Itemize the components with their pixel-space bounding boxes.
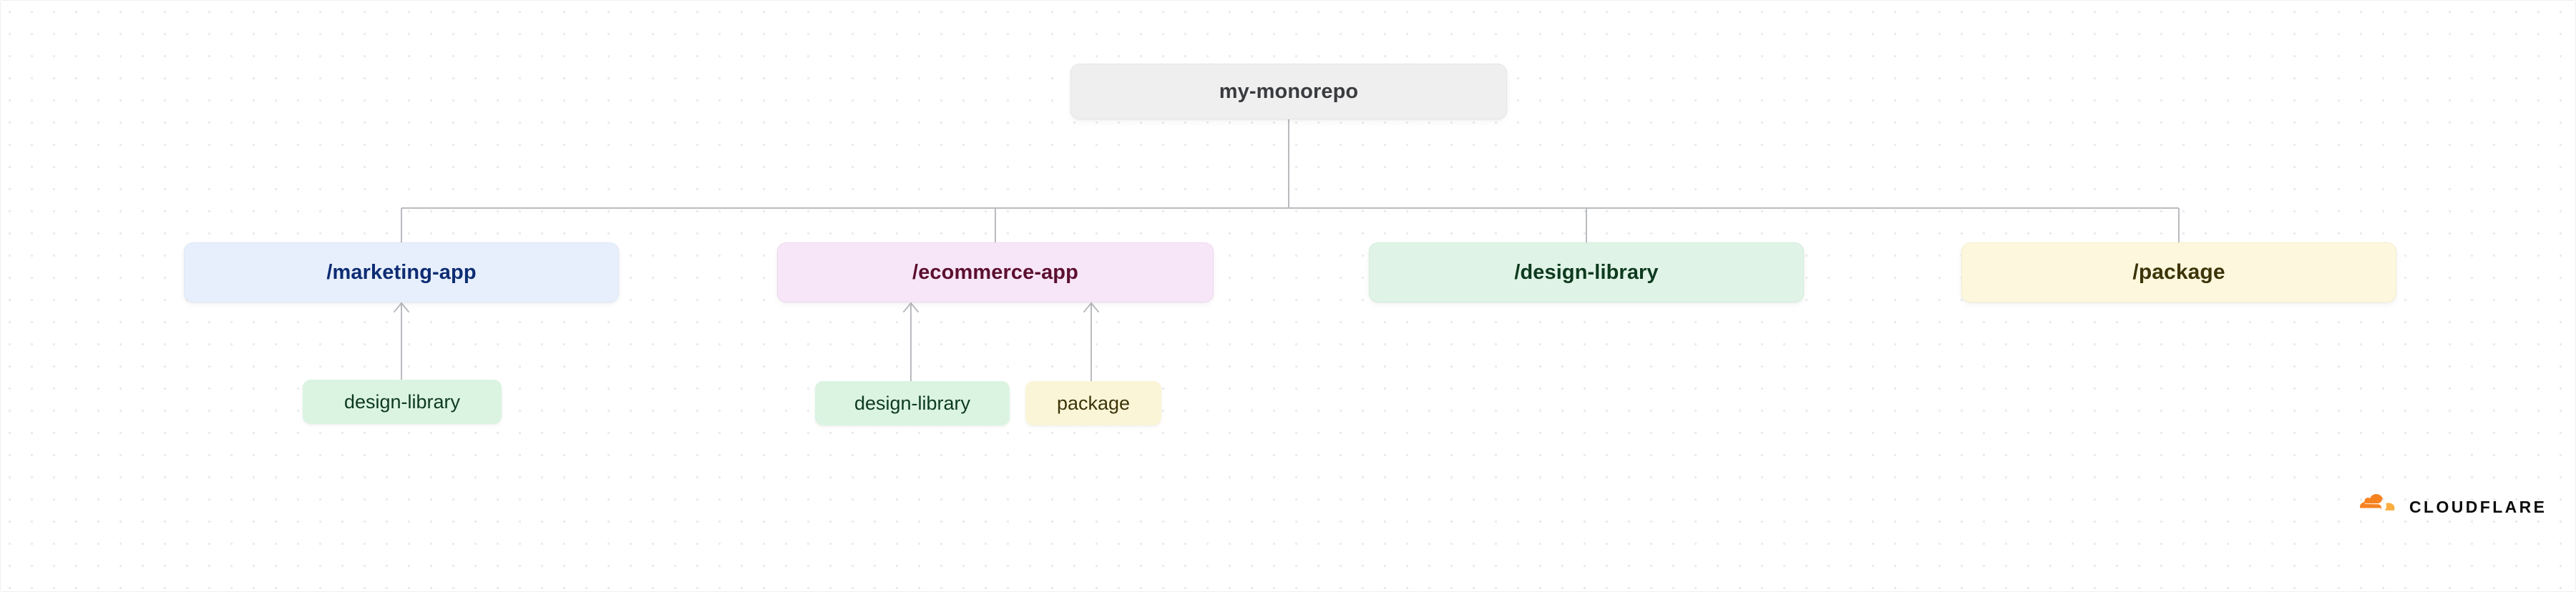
- dependency-chip-label: design-library: [344, 391, 460, 413]
- arrowhead-package: [1084, 303, 1098, 312]
- node-package[interactable]: /package: [1961, 242, 2396, 302]
- cloudflare-wordmark: CLOUDFLARE: [2409, 498, 2547, 517]
- node-ecommerce-app[interactable]: /ecommerce-app: [777, 242, 1214, 302]
- dependency-chip-design-library[interactable]: design-library: [815, 381, 1010, 425]
- dependency-chip-label: design-library: [854, 393, 970, 415]
- arrowhead-design-library: [394, 303, 409, 312]
- node-my-monorepo[interactable]: my-monorepo: [1070, 64, 1507, 119]
- node-label-my-monorepo: my-monorepo: [1219, 80, 1358, 104]
- arrowhead-design-library: [904, 303, 918, 312]
- cloudflare-branding: CLOUDFLARE: [2355, 494, 2547, 521]
- node-label-marketing-app: /marketing-app: [326, 261, 476, 285]
- dependency-chip-design-library[interactable]: design-library: [303, 380, 502, 424]
- node-label-ecommerce-app: /ecommerce-app: [912, 261, 1078, 285]
- diagram-canvas[interactable]: my-monorepo /marketing-appdesign-library…: [0, 0, 2576, 592]
- dependency-chip-label: package: [1057, 393, 1130, 415]
- node-marketing-app[interactable]: /marketing-app: [184, 242, 619, 302]
- cloudflare-cloud-icon: [2355, 494, 2401, 521]
- node-design-library[interactable]: /design-library: [1369, 242, 1804, 302]
- dependency-chip-package[interactable]: package: [1025, 381, 1161, 425]
- node-label-package: /package: [2132, 260, 2225, 285]
- node-label-design-library: /design-library: [1514, 261, 1658, 285]
